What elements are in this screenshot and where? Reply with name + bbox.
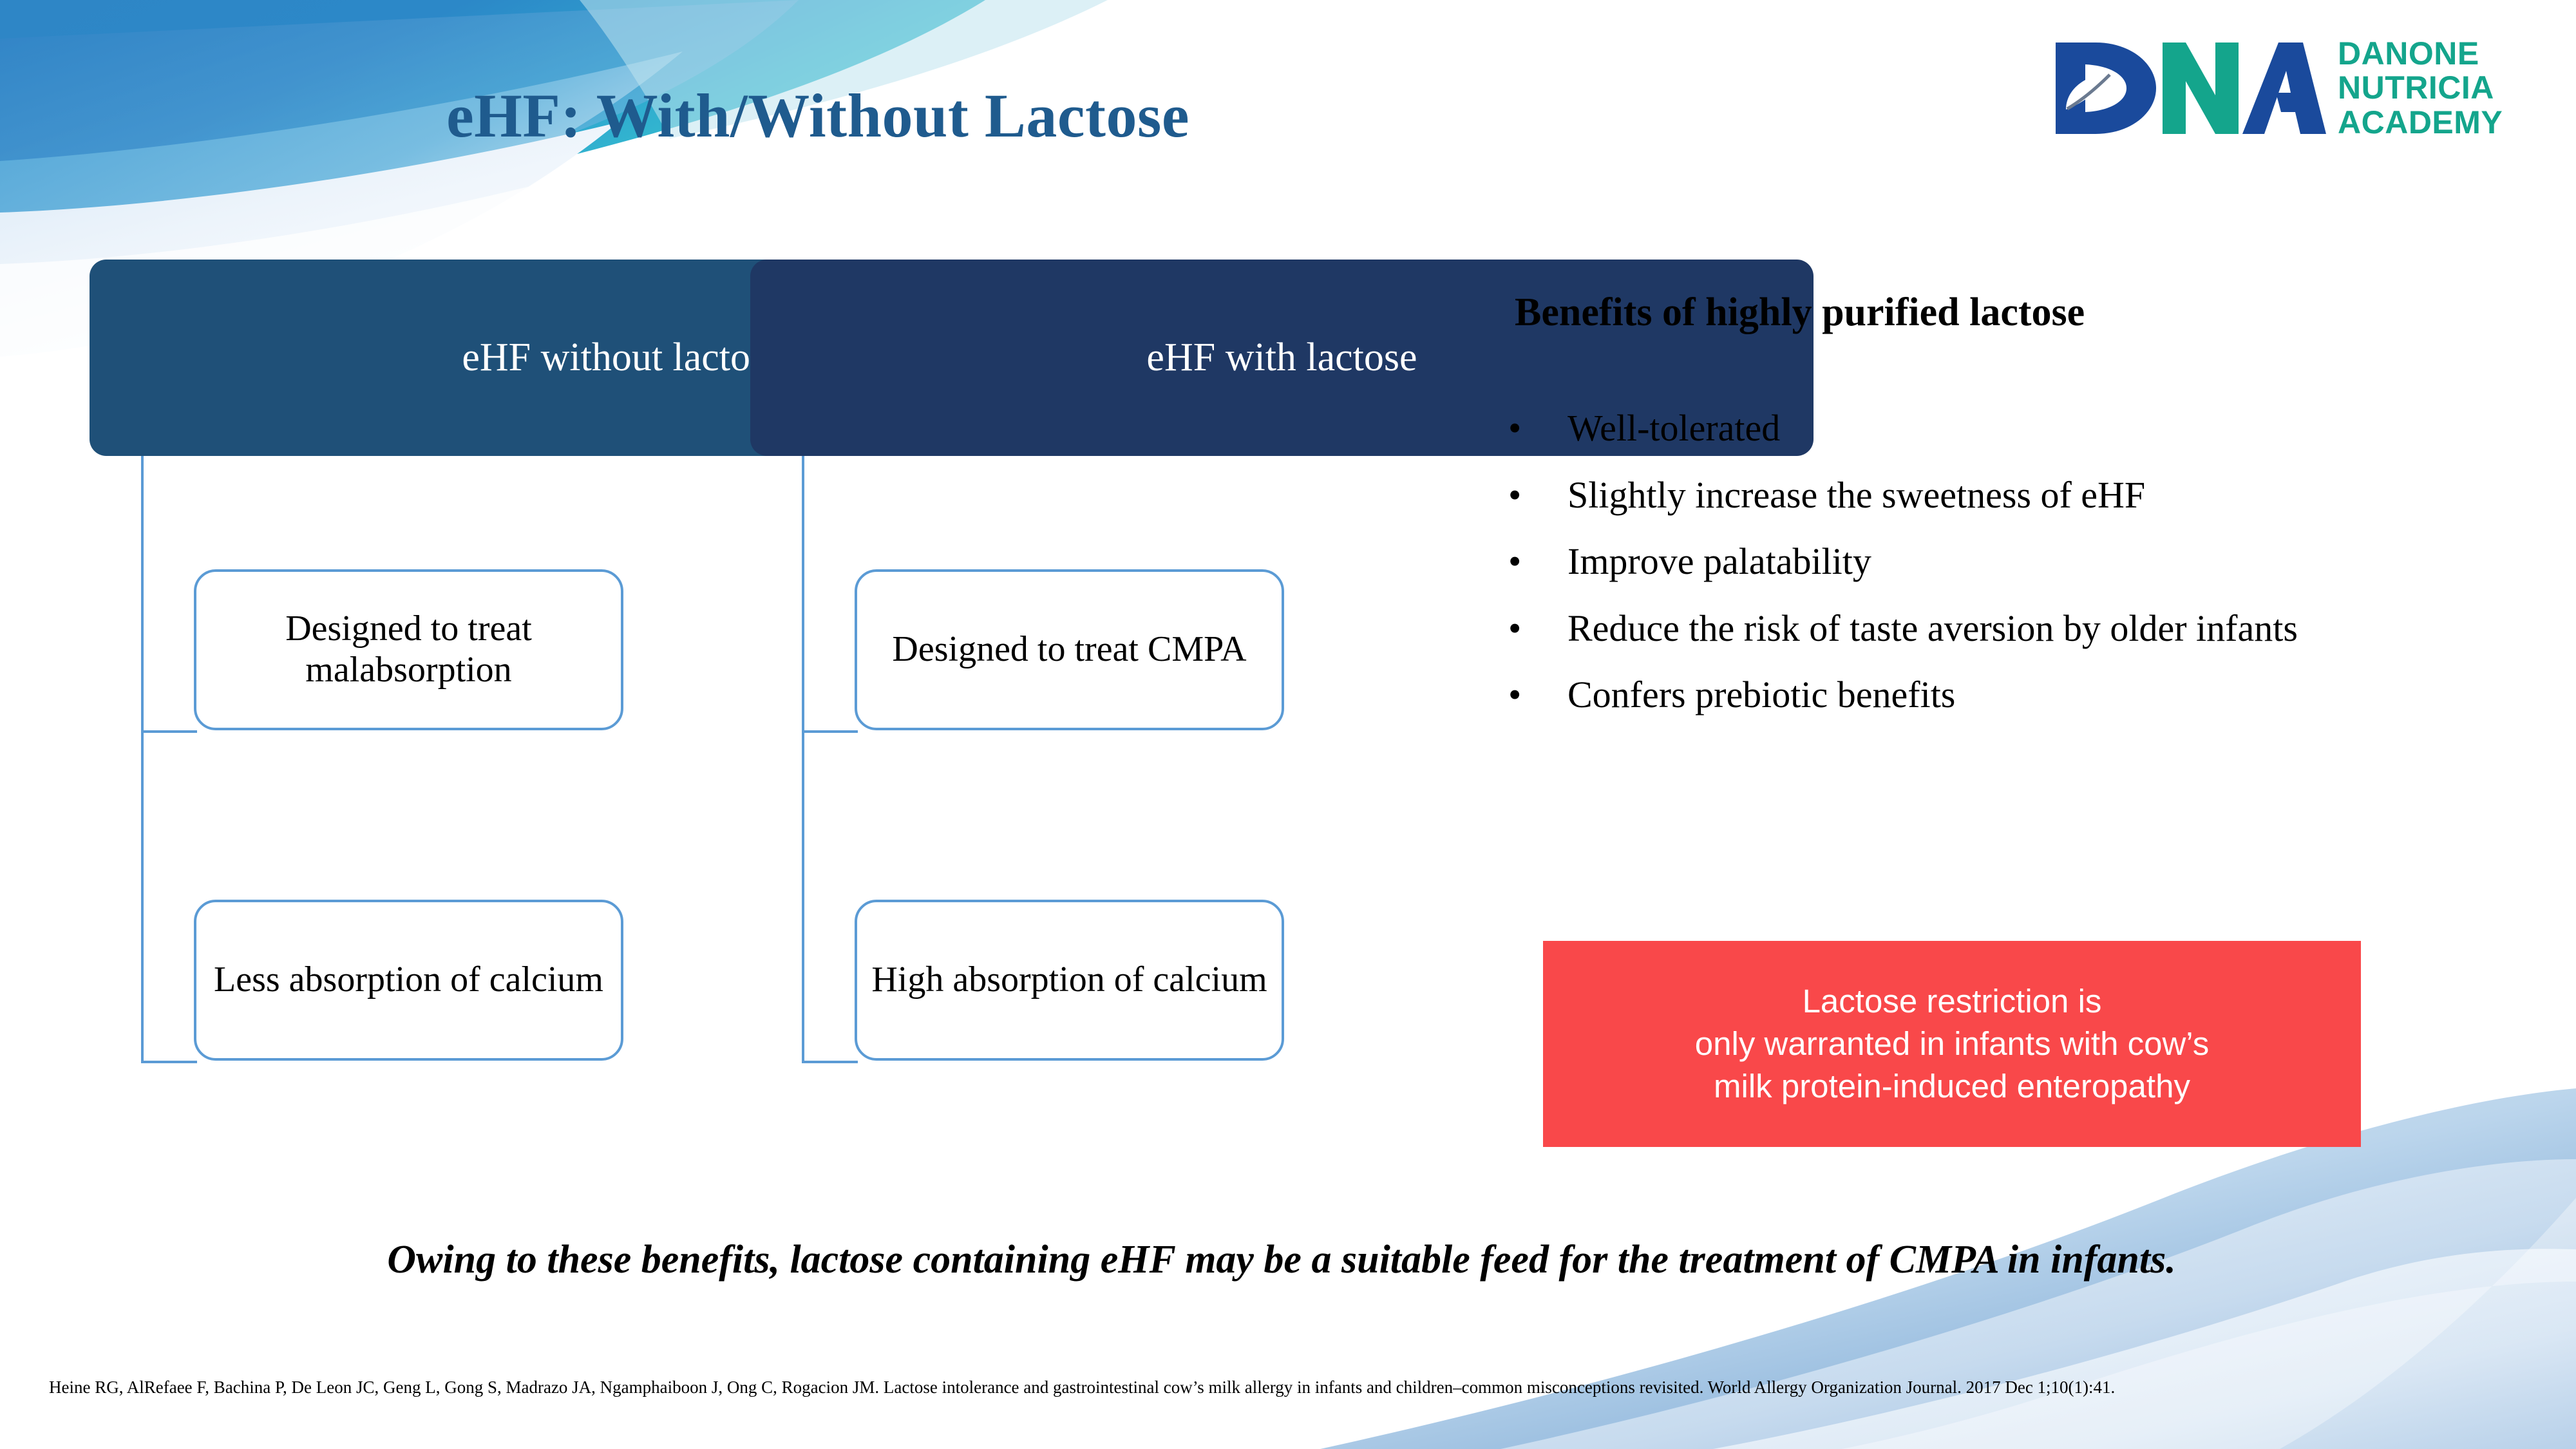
flow-child-label: High absorption of calcium <box>871 960 1267 1001</box>
flow-connector-trunk-1 <box>141 456 144 1063</box>
flow-child-label: Designed to treat malabsorption <box>211 609 607 691</box>
dna-monogram-icon <box>2049 33 2326 143</box>
flow-connector-trunk-2 <box>802 456 804 1063</box>
bullet-icon: • <box>1501 672 1567 717</box>
lactose-restriction-callout: Lactose restriction is only warranted in… <box>1543 941 2361 1147</box>
list-item-label: Confers prebiotic benefits <box>1567 672 2505 717</box>
callout-line-3: milk protein-induced enteropathy <box>1695 1065 2209 1108</box>
flow-child-designed-treat-malabsorption[interactable]: Designed to treat malabsorption <box>194 569 623 730</box>
list-item-label: Improve palatability <box>1567 539 2505 584</box>
flow-child-high-absorption-calcium[interactable]: High absorption of calcium <box>855 900 1284 1061</box>
list-item-label: Slightly increase the sweetness of eHF <box>1567 473 2505 518</box>
flow-connector-branch-1a <box>141 730 197 733</box>
list-item: • Confers prebiotic benefits <box>1501 672 2505 717</box>
conclusion-statement: Owing to these benefits, lactose contain… <box>39 1236 2524 1283</box>
benefits-list: • Well-tolerated • Slightly increase the… <box>1501 406 2505 739</box>
callout-line-1: Lactose restriction is <box>1695 980 2209 1023</box>
logo-line-danone: DANONE <box>2338 37 2503 71</box>
flow-connector-branch-1b <box>141 1061 197 1063</box>
list-item: • Well-tolerated <box>1501 406 2505 451</box>
list-item: • Slightly increase the sweetness of eHF <box>1501 473 2505 518</box>
slide-canvas: eHF: With/Without Lactose DANONE NUTRICI… <box>0 0 2576 1449</box>
list-item-label: Reduce the risk of taste aversion by old… <box>1567 606 2505 651</box>
benefits-heading: Benefits of highly purified lactose <box>1515 290 2085 336</box>
page-title: eHF: With/Without Lactose <box>0 84 1636 149</box>
dna-academy-logo: DANONE NUTRICIA ACADEMY <box>2049 27 2539 149</box>
bullet-icon: • <box>1501 473 1567 518</box>
list-item: • Improve palatability <box>1501 539 2505 584</box>
flow-parent-label: eHF without lactose <box>462 335 783 381</box>
flow-child-label: Less absorption of calcium <box>214 960 603 1001</box>
callout-line-2: only warranted in infants with cow’s <box>1695 1023 2209 1065</box>
citation-reference: Heine RG, AlRefaee F, Bachina P, De Leon… <box>49 1375 2380 1400</box>
list-item-label: Well-tolerated <box>1567 406 2505 451</box>
logo-wordmark: DANONE NUTRICIA ACADEMY <box>2338 37 2503 140</box>
flow-parent-label: eHF with lactose <box>1146 335 1417 381</box>
list-item: • Reduce the risk of taste aversion by o… <box>1501 606 2505 651</box>
bullet-icon: • <box>1501 539 1567 584</box>
flow-connector-branch-2a <box>802 730 858 733</box>
logo-line-nutricia: NUTRICIA <box>2338 71 2503 106</box>
flow-connector-branch-2b <box>802 1061 858 1063</box>
bullet-icon: • <box>1501 406 1567 451</box>
flow-child-less-absorption-calcium[interactable]: Less absorption of calcium <box>194 900 623 1061</box>
logo-line-academy: ACADEMY <box>2338 106 2503 140</box>
bullet-icon: • <box>1501 606 1567 651</box>
flow-child-label: Designed to treat CMPA <box>892 629 1246 670</box>
flow-child-designed-treat-cmpa[interactable]: Designed to treat CMPA <box>855 569 1284 730</box>
